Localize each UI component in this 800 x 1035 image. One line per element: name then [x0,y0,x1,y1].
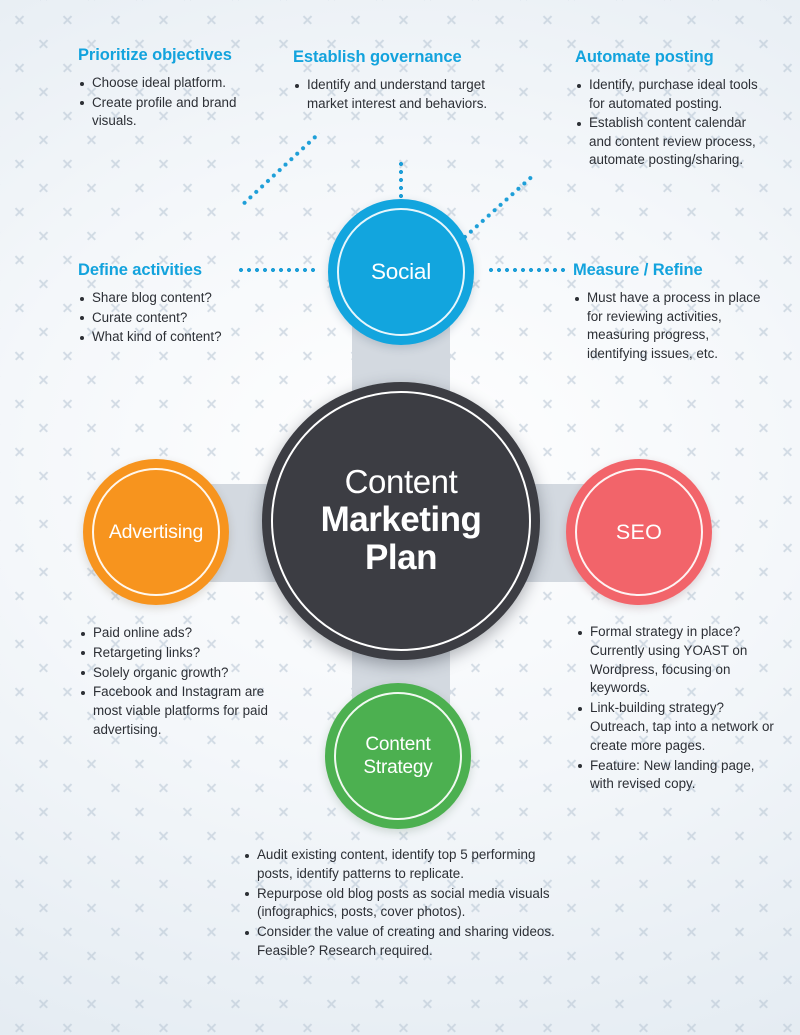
background-x-mark [230,998,241,1009]
background-x-mark [518,0,529,1]
background-x-mark [278,422,289,433]
background-x-mark [422,0,433,1]
background-x-mark [422,182,433,193]
background-x-mark [566,0,577,1]
background-x-mark [38,710,49,721]
background-x-mark [326,662,337,673]
background-x-mark [662,902,673,913]
background-x-mark [302,398,313,409]
background-x-mark [14,14,25,25]
background-x-mark [470,998,481,1009]
background-x-mark [566,806,577,817]
background-x-mark [590,206,601,217]
block-advertising-notes-list: Paid online ads?Retargeting links?Solely… [79,624,284,740]
background-x-mark [86,950,97,961]
background-x-mark [518,326,529,337]
background-x-mark [0,134,1,145]
background-x-mark [758,230,769,241]
background-x-mark [302,974,313,985]
background-x-mark [86,134,97,145]
background-x-mark [182,182,193,193]
background-x-mark [782,926,793,937]
background-x-mark [566,470,577,481]
background-x-mark [542,350,553,361]
background-x-mark [158,782,169,793]
background-x-mark [62,542,73,553]
background-x-mark [398,14,409,25]
node-advertising-label: Advertising [109,521,203,544]
background-x-mark [566,998,577,1009]
background-x-mark [518,614,529,625]
background-x-mark [782,1022,793,1033]
background-x-mark [710,902,721,913]
background-x-mark [710,182,721,193]
background-x-mark [758,422,769,433]
block-prioritize-objectives: Prioritize objectives Choose ideal platf… [78,46,253,132]
background-x-mark [638,206,649,217]
background-x-mark [686,974,697,985]
background-x-mark [38,230,49,241]
background-x-mark [0,38,1,49]
background-x-mark [398,1022,409,1033]
background-x-mark [542,782,553,793]
background-x-mark [182,806,193,817]
background-x-mark [758,566,769,577]
background-x-mark [254,590,265,601]
background-x-mark [758,998,769,1009]
background-x-mark [326,134,337,145]
background-x-mark [758,902,769,913]
node-advertising[interactable]: Advertising [83,459,229,605]
background-x-mark [62,878,73,889]
background-x-mark [494,254,505,265]
background-x-mark [518,998,529,1009]
background-x-mark [230,422,241,433]
background-x-mark [710,854,721,865]
background-x-mark [158,206,169,217]
background-x-mark [638,974,649,985]
background-x-mark [230,374,241,385]
background-x-mark [758,182,769,193]
background-x-mark [662,950,673,961]
background-x-mark [710,0,721,1]
background-x-mark [254,446,265,457]
background-x-mark [782,974,793,985]
background-x-mark [350,1022,361,1033]
background-x-mark [566,374,577,385]
background-x-mark [710,998,721,1009]
center-title-line3: Plan [321,540,482,577]
background-x-mark [62,974,73,985]
background-x-mark [230,470,241,481]
background-x-mark [758,470,769,481]
background-x-mark [278,230,289,241]
list-item: Audit existing content, identify top 5 p… [243,846,573,884]
background-x-mark [110,782,121,793]
block-prioritize-objectives-list: Choose ideal platform.Create profile and… [78,74,253,131]
background-x-mark [134,134,145,145]
list-item: Link-building strategy? Outreach, tap in… [576,699,776,755]
background-x-mark [662,806,673,817]
background-x-mark [14,878,25,889]
background-x-mark [110,830,121,841]
background-x-mark [14,206,25,217]
background-x-mark [302,686,313,697]
node-seo[interactable]: SEO [566,459,712,605]
background-x-mark [0,614,1,625]
background-x-mark [38,134,49,145]
background-x-mark [494,782,505,793]
background-x-mark [566,422,577,433]
background-x-mark [38,854,49,865]
background-x-mark [326,374,337,385]
block-advertising-notes: Paid online ads?Retargeting links?Solely… [79,624,284,741]
background-x-mark [710,374,721,385]
background-x-mark [542,302,553,313]
background-x-mark [206,350,217,361]
background-x-mark [734,446,745,457]
background-x-mark [0,278,1,289]
node-content-strategy[interactable]: Content Strategy [325,683,471,829]
background-x-mark [518,374,529,385]
background-x-mark [14,638,25,649]
background-x-mark [494,734,505,745]
background-x-mark [734,398,745,409]
background-x-mark [14,398,25,409]
background-x-mark [470,134,481,145]
background-x-mark [398,974,409,985]
background-x-mark [782,206,793,217]
background-x-mark [206,782,217,793]
background-x-mark [14,494,25,505]
block-automate-posting: Automate posting Identify, purchase idea… [575,48,770,171]
background-x-mark [686,590,697,601]
background-x-mark [134,182,145,193]
background-x-mark [782,254,793,265]
background-x-mark [182,950,193,961]
background-x-mark [590,1022,601,1033]
node-content-strategy-line2: Strategy [363,757,432,778]
background-x-mark [518,230,529,241]
background-x-mark [782,734,793,745]
background-x-mark [62,590,73,601]
background-x-mark [590,974,601,985]
background-x-mark [62,302,73,313]
background-x-mark [734,206,745,217]
background-x-mark [686,830,697,841]
block-automate-posting-title: Automate posting [575,48,770,67]
background-x-mark [0,758,1,769]
background-x-mark [686,1022,697,1033]
background-x-mark [662,0,673,1]
background-x-mark [782,830,793,841]
background-x-mark [758,0,769,1]
background-x-mark [326,998,337,1009]
background-x-mark [470,758,481,769]
background-x-mark [0,422,1,433]
background-x-mark [542,110,553,121]
background-x-mark [134,854,145,865]
background-x-mark [38,758,49,769]
background-x-mark [542,686,553,697]
background-x-mark [158,158,169,169]
background-x-mark [590,878,601,889]
block-establish-governance-list: Identify and understand target market in… [293,76,528,113]
background-x-mark [230,182,241,193]
background-x-mark [182,230,193,241]
background-x-mark [662,854,673,865]
background-x-mark [518,806,529,817]
background-x-mark [758,806,769,817]
background-x-mark [38,806,49,817]
background-x-mark [38,326,49,337]
background-x-mark [86,806,97,817]
background-x-mark [278,758,289,769]
background-x-mark [446,974,457,985]
background-x-mark [662,374,673,385]
background-x-mark [494,158,505,169]
background-x-mark [614,950,625,961]
background-x-mark [614,854,625,865]
block-prioritize-objectives-title: Prioritize objectives [78,46,253,65]
background-x-mark [614,374,625,385]
background-x-mark [38,662,49,673]
background-x-mark [110,1022,121,1033]
background-x-mark [62,638,73,649]
background-x-mark [710,422,721,433]
background-x-mark [374,134,385,145]
list-item: Solely organic growth? [79,664,284,683]
background-x-mark [638,1022,649,1033]
background-x-mark [38,998,49,1009]
background-x-mark [86,422,97,433]
background-x-mark [614,230,625,241]
background-x-mark [38,422,49,433]
background-x-mark [662,182,673,193]
background-x-mark [86,182,97,193]
list-item: Retargeting links? [79,644,284,663]
background-x-mark [62,494,73,505]
background-x-mark [542,734,553,745]
background-x-mark [0,0,1,1]
background-x-mark [350,830,361,841]
background-x-mark [86,854,97,865]
background-x-mark [782,590,793,601]
background-x-mark [566,230,577,241]
background-x-mark [0,230,1,241]
background-x-mark [542,206,553,217]
dotted-connector-measure [487,268,567,272]
background-x-mark [0,182,1,193]
background-x-mark [686,926,697,937]
background-x-mark [254,974,265,985]
list-item: Repurpose old blog posts as social media… [243,885,573,923]
background-x-mark [374,998,385,1009]
list-item: Create profile and brand visuals. [78,94,253,131]
background-x-mark [518,710,529,721]
background-x-mark [230,134,241,145]
background-x-mark [710,470,721,481]
background-x-mark [62,830,73,841]
background-x-mark [302,782,313,793]
background-x-mark [518,134,529,145]
background-x-mark [542,158,553,169]
background-x-mark [62,14,73,25]
background-x-mark [0,710,1,721]
background-x-mark [734,494,745,505]
background-x-mark [278,38,289,49]
background-x-mark [278,374,289,385]
background-x-mark [590,446,601,457]
background-x-mark [494,302,505,313]
background-x-mark [86,0,97,1]
background-x-mark [230,854,241,865]
center-title-line1: Content [321,465,482,500]
background-x-mark [230,950,241,961]
background-x-mark [302,830,313,841]
background-x-mark [470,806,481,817]
background-x-mark [758,950,769,961]
list-item: Choose ideal platform. [78,74,253,93]
background-x-mark [494,350,505,361]
background-x-mark [14,62,25,73]
background-x-mark [398,830,409,841]
node-center-content-marketing-plan[interactable]: Content Marketing Plan [262,382,540,660]
background-x-mark [446,830,457,841]
background-x-mark [230,806,241,817]
background-x-mark [734,542,745,553]
background-x-mark [0,566,1,577]
background-x-mark [302,302,313,313]
background-x-mark [182,758,193,769]
background-x-mark [350,14,361,25]
background-x-mark [158,350,169,361]
background-x-mark [638,14,649,25]
background-x-mark [0,806,1,817]
background-x-mark [206,830,217,841]
background-x-mark [278,134,289,145]
background-x-mark [182,902,193,913]
background-x-mark [38,38,49,49]
background-x-mark [0,374,1,385]
background-x-mark [134,230,145,241]
background-x-mark [230,0,241,1]
background-x-mark [446,158,457,169]
background-x-mark [278,182,289,193]
background-x-mark [182,134,193,145]
background-x-mark [374,0,385,1]
background-x-mark [542,446,553,457]
background-x-mark [782,62,793,73]
background-x-mark [638,446,649,457]
background-x-mark [518,422,529,433]
background-x-mark [14,686,25,697]
background-x-mark [638,878,649,889]
background-x-mark [110,926,121,937]
background-x-mark [734,590,745,601]
background-x-mark [158,926,169,937]
background-x-mark [710,230,721,241]
background-x-mark [686,446,697,457]
background-x-mark [782,446,793,457]
background-x-mark [614,422,625,433]
background-x-mark [278,0,289,1]
background-x-mark [302,14,313,25]
list-item: Feature: New landing page, with revised … [576,757,776,795]
background-x-mark [662,422,673,433]
node-social[interactable]: Social [328,199,474,345]
list-item: What kind of content? [78,328,278,347]
background-x-mark [0,86,1,97]
background-x-mark [206,398,217,409]
background-x-mark [494,1022,505,1033]
background-x-mark [758,518,769,529]
background-x-mark [86,758,97,769]
background-x-mark [110,446,121,457]
background-x-mark [494,974,505,985]
background-x-mark [0,662,1,673]
background-x-mark [278,998,289,1009]
background-x-mark [38,0,49,1]
background-x-mark [350,974,361,985]
block-content-strategy-notes-list: Audit existing content, identify top 5 p… [243,846,573,961]
background-x-mark [278,806,289,817]
background-x-mark [134,758,145,769]
background-x-mark [326,806,337,817]
background-x-mark [14,254,25,265]
list-item: Identify and understand target market in… [293,76,528,113]
background-x-mark [590,926,601,937]
background-x-mark [134,950,145,961]
background-x-mark [206,158,217,169]
background-x-mark [182,998,193,1009]
background-x-mark [62,398,73,409]
background-x-mark [782,542,793,553]
background-x-mark [134,374,145,385]
background-x-mark [710,806,721,817]
background-x-mark [38,518,49,529]
background-x-mark [758,854,769,865]
block-automate-posting-list: Identify, purchase ideal tools for autom… [575,76,770,170]
background-x-mark [254,1022,265,1033]
background-x-mark [206,878,217,889]
background-x-mark [134,902,145,913]
block-establish-governance: Establish governance Identify and unders… [293,48,528,114]
background-x-mark [350,158,361,169]
background-x-mark [782,302,793,313]
background-x-mark [206,1022,217,1033]
background-x-mark [326,0,337,1]
background-x-mark [38,470,49,481]
background-x-mark [638,398,649,409]
background-x-mark [542,14,553,25]
background-x-mark [158,878,169,889]
background-x-mark [662,998,673,1009]
list-item: Establish content calendar and content r… [575,114,770,170]
background-x-mark [542,62,553,73]
background-x-mark [230,902,241,913]
block-content-strategy-notes: Audit existing content, identify top 5 p… [243,846,573,962]
background-x-mark [782,494,793,505]
background-x-mark [254,398,265,409]
background-x-mark [134,998,145,1009]
background-x-mark [206,446,217,457]
background-x-mark [590,398,601,409]
background-x-mark [0,854,1,865]
background-x-mark [110,350,121,361]
list-item: Share blog content? [78,289,278,308]
background-x-mark [278,278,289,289]
